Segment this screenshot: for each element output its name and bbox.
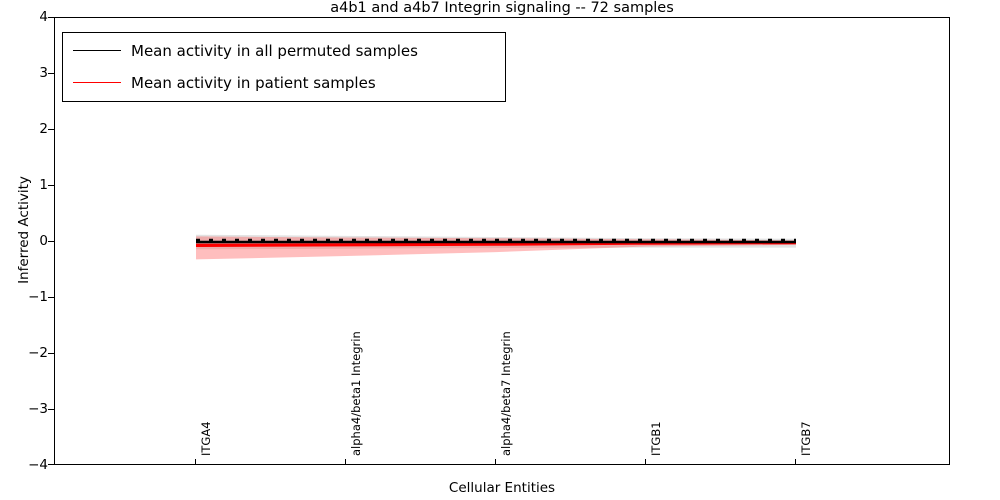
- legend-label-patient: Mean activity in patient samples: [131, 73, 376, 93]
- x-tick-mark: [495, 459, 496, 465]
- x-tick-label-alpha4-beta7: alpha4/beta7 Integrin: [500, 331, 512, 456]
- chart-legend: Mean activity in all permuted samples Me…: [62, 32, 506, 102]
- legend-label-permuted: Mean activity in all permuted samples: [131, 41, 418, 61]
- x-tick-mark: [645, 459, 646, 465]
- x-tick-label-alpha4-beta1: alpha4/beta1 Integrin: [350, 331, 362, 456]
- y-tick-label: −4: [8, 458, 48, 472]
- figure-canvas: a4b1 and a4b7 Integrin signaling -- 72 s…: [0, 0, 1000, 500]
- page-title: a4b1 and a4b7 Integrin signaling -- 72 s…: [54, 0, 950, 17]
- legend-swatch-patient: [73, 82, 121, 83]
- y-axis-label: Inferred Activity: [16, 20, 32, 440]
- x-tick-label-itgb1: ITGB1: [650, 421, 662, 456]
- x-tick-mark: [795, 459, 796, 465]
- legend-swatch-permuted: [73, 50, 121, 51]
- legend-entry-permuted: Mean activity in all permuted samples: [63, 36, 505, 66]
- legend-entry-patient: Mean activity in patient samples: [63, 68, 505, 98]
- x-tick-label-itgb7: ITGB7: [800, 421, 812, 456]
- x-tick-mark: [345, 459, 346, 465]
- x-tick-label-itga4: ITGA4: [200, 421, 212, 456]
- x-axis-label: Cellular Entities: [54, 480, 950, 496]
- x-tick-mark: [195, 459, 196, 465]
